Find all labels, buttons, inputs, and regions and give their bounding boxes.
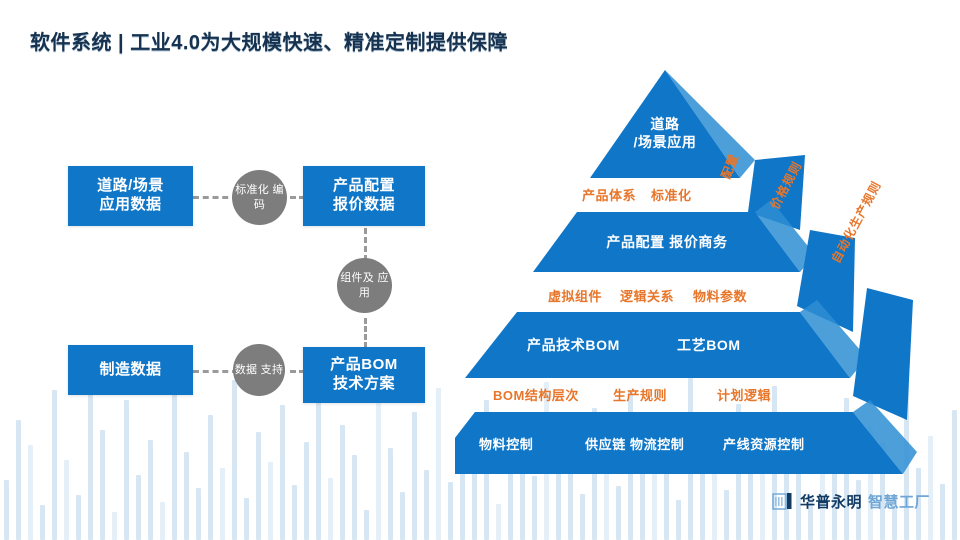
brand-logo-name: 华普永明 <box>800 491 862 512</box>
pyramid-tier1-line2: /场景应用 <box>634 134 697 150</box>
connector-line-bottom-left <box>193 370 238 373</box>
flow-box-manufacturing-line1: 制造数据 <box>99 361 161 378</box>
connector-component-app-line1: 组件及 <box>340 272 374 284</box>
flow-box-config-quote-line2: 报价数据 <box>333 196 395 215</box>
connector-line-vertical-bottom <box>364 318 367 348</box>
flow-box-road-scene-line1: 道路/场景 <box>97 177 164 194</box>
background-bar <box>676 500 681 540</box>
brand-logo: 华普永明 智慧工厂 <box>772 490 930 512</box>
pyramid-tier3-label-2: 工艺BOM <box>677 335 741 355</box>
pyramid-tier3-sublabel-3: 计划逻辑 <box>717 385 771 404</box>
brand-mark-icon <box>772 490 794 512</box>
pyramid-tier4-label-2: 供应链 物流控制 <box>585 434 684 453</box>
pyramid-tier2-sublabel-3: 物料参数 <box>693 286 747 305</box>
pyramid-tier3-label-1: 产品技术BOM <box>527 335 620 355</box>
pyramid-side-panel-3 <box>853 288 913 420</box>
flow-connector-component-application[interactable]: 组件及 应用 <box>337 258 392 313</box>
background-bar <box>724 490 729 540</box>
background-bar <box>496 504 501 540</box>
pyramid-tier1-sublabel-2: 标准化 <box>651 185 692 204</box>
pyramid-tier1-label: 道路 /场景应用 <box>605 115 725 151</box>
pyramid-tier3-sublabel-1: BOM结构层次 <box>493 385 579 404</box>
background-bar <box>940 484 945 540</box>
slide-canvas: 软件系统 | 工业4.0为大规模快速、精准定制提供保障 道路/场景 应用数据 标… <box>0 0 960 540</box>
pyramid-tier1-sublabel-1: 产品体系 <box>582 185 636 204</box>
pyramid-tier3-shape <box>465 312 850 378</box>
connector-standard-coding-line1: 标准化 <box>235 184 269 196</box>
pyramid-tier4-label-1: 物料控制 <box>479 434 533 453</box>
flow-box-road-scene-line2: 应用数据 <box>97 196 164 215</box>
flow-box-bom-line2: 技术方案 <box>330 375 398 394</box>
connector-line-vertical-top <box>364 228 367 261</box>
flow-box-config-quote-line1: 产品配置 <box>333 177 395 194</box>
pyramid-tier2-sublabel-1: 虚拟组件 <box>548 286 602 305</box>
connector-data-support-line1: 数据 <box>235 364 258 376</box>
flow-box-road-scene-data[interactable]: 道路/场景 应用数据 <box>68 166 193 226</box>
pyramid-tier2-sublabel-2: 逻辑关系 <box>620 286 674 305</box>
pyramid-tier3-sublabel-2: 生产规则 <box>613 385 667 404</box>
brand-logo-sub: 智慧工厂 <box>868 491 930 512</box>
background-bar <box>616 486 621 540</box>
flow-box-product-config-quote-data[interactable]: 产品配置 报价数据 <box>303 166 425 226</box>
connector-data-support-line2: 支持 <box>261 364 284 376</box>
pyramid-tier4-label-3: 产线资源控制 <box>723 434 805 453</box>
flow-box-product-bom-tech-plan[interactable]: 产品BOM 技术方案 <box>303 347 425 403</box>
pyramid-tier1-line1: 道路 <box>650 116 679 132</box>
pyramid-tier2-label: 产品配置 报价商务 <box>572 232 762 252</box>
page-title: 软件系统 | 工业4.0为大规模快速、精准定制提供保障 <box>30 26 508 55</box>
flow-box-bom-line1: 产品BOM <box>330 356 398 373</box>
background-bar <box>580 494 585 540</box>
capability-pyramid-diagram: 道路 /场景应用 产品体系 标准化 产品配置 报价商务 虚拟组件 逻辑关系 物料… <box>455 60 960 490</box>
data-flow-diagram: 道路/场景 应用数据 标准化 编码 产品配置 报价数据 组件及 应用 <box>0 0 470 540</box>
flow-connector-data-support[interactable]: 数据 支持 <box>233 344 285 396</box>
flow-connector-standard-coding[interactable]: 标准化 编码 <box>232 170 287 225</box>
flow-box-manufacturing-data[interactable]: 制造数据 <box>68 345 193 395</box>
page-title-text: 软件系统 | 工业4.0为大规模快速、精准定制提供保障 <box>30 26 508 55</box>
